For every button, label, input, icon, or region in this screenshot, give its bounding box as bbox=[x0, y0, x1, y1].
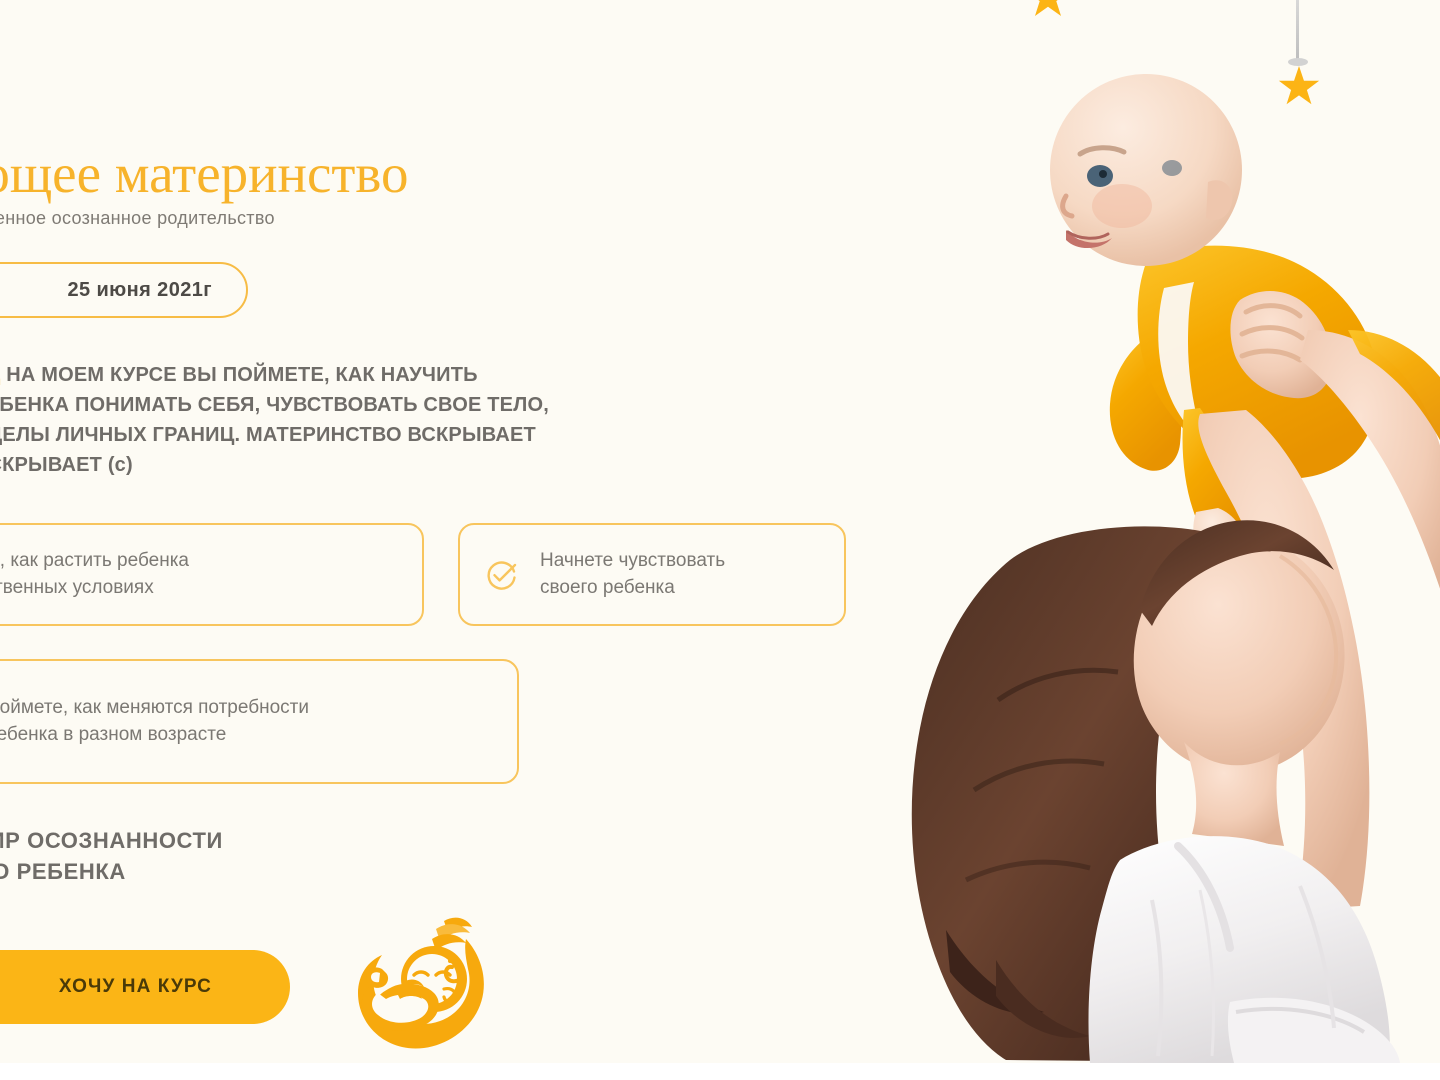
promo-line-1: НА МОЕМ КУРСЕ ВЫ ПОЙМЕТЕ, КАК НАУЧИТЬ bbox=[0, 364, 477, 386]
mother-and-baby-photo bbox=[760, 0, 1440, 1063]
hero-section: ияющее материнство в естественное осозна… bbox=[0, 0, 1440, 1063]
star-icon bbox=[1278, 66, 1320, 108]
feature-card[interactable]: Узнаете, как растить ребенка в естествен… bbox=[0, 523, 424, 626]
page-bottom-strip bbox=[0, 1063, 1440, 1080]
closing-statement: РОЙ МИР ОСОЗНАННОСТИ СВОЕГО РЕБЕНКА bbox=[0, 825, 814, 887]
promo-line: МЕСЯЦ НА МОЕМ КУРСЕ ВЫ ПОЙМЕТЕ, КАК НАУЧ… bbox=[0, 360, 786, 390]
closing-line: РОЙ МИР ОСОЗНАННОСТИ bbox=[0, 825, 814, 856]
feature-card-line: Начнете чувствовать bbox=[540, 548, 725, 575]
feature-card[interactable]: Начнете чувствовать своего ребенка bbox=[458, 523, 846, 626]
hanging-star-decoration bbox=[1278, 0, 1318, 135]
date-badge-label: 25 июня 2021г bbox=[67, 279, 212, 302]
feature-card-text: Поймете, как меняются потребности ребенк… bbox=[0, 695, 309, 749]
feature-card-line: в естественных условиях bbox=[0, 575, 189, 602]
feature-card-text: Начнете чувствовать своего ребенка bbox=[540, 548, 725, 602]
check-circle-icon bbox=[484, 558, 518, 592]
promo-line: Ь ПРЕДЕЛЫ ЛИЧНЫХ ГРАНИЦ. МАТЕРИНСТВО ВСК… bbox=[0, 420, 786, 450]
feature-card-line: ребенка в разном возрасте bbox=[0, 722, 309, 749]
star-knot bbox=[1288, 58, 1308, 66]
top-clipped-label bbox=[0, 52, 72, 80]
baby-in-hand-logo bbox=[348, 905, 498, 1055]
closing-line: СВОЕГО РЕБЕНКА bbox=[0, 856, 814, 887]
feature-card-line: Узнаете, как растить ребенка bbox=[0, 548, 189, 575]
enroll-button[interactable]: ХОЧУ НА КУРС bbox=[0, 950, 290, 1024]
promo-line: ЕГО РЕБЕНКА ПОНИМАТЬ СЕБЯ, ЧУВСТВОВАТЬ С… bbox=[0, 390, 786, 420]
page-title: ияющее материнство bbox=[0, 145, 814, 203]
feature-card[interactable]: Поймете, как меняются потребности ребенк… bbox=[0, 659, 519, 784]
promo-line: и....РАСКРЫВАЕТ (с) bbox=[0, 450, 786, 480]
feature-card-text: Узнаете, как растить ребенка в естествен… bbox=[0, 548, 189, 602]
date-badge: 25 июня 2021г bbox=[0, 262, 248, 318]
feature-card-line: своего ребенка bbox=[540, 575, 725, 602]
hero-text-column: ияющее материнство в естественное осозна… bbox=[0, 0, 780, 1063]
page-subtitle: в естественное осознанное родительство bbox=[0, 208, 814, 229]
star-string bbox=[1296, 0, 1299, 62]
promo-paragraph: МЕСЯЦ НА МОЕМ КУРСЕ ВЫ ПОЙМЕТЕ, КАК НАУЧ… bbox=[0, 360, 786, 480]
feature-card-line: Поймете, как меняются потребности bbox=[0, 695, 309, 722]
